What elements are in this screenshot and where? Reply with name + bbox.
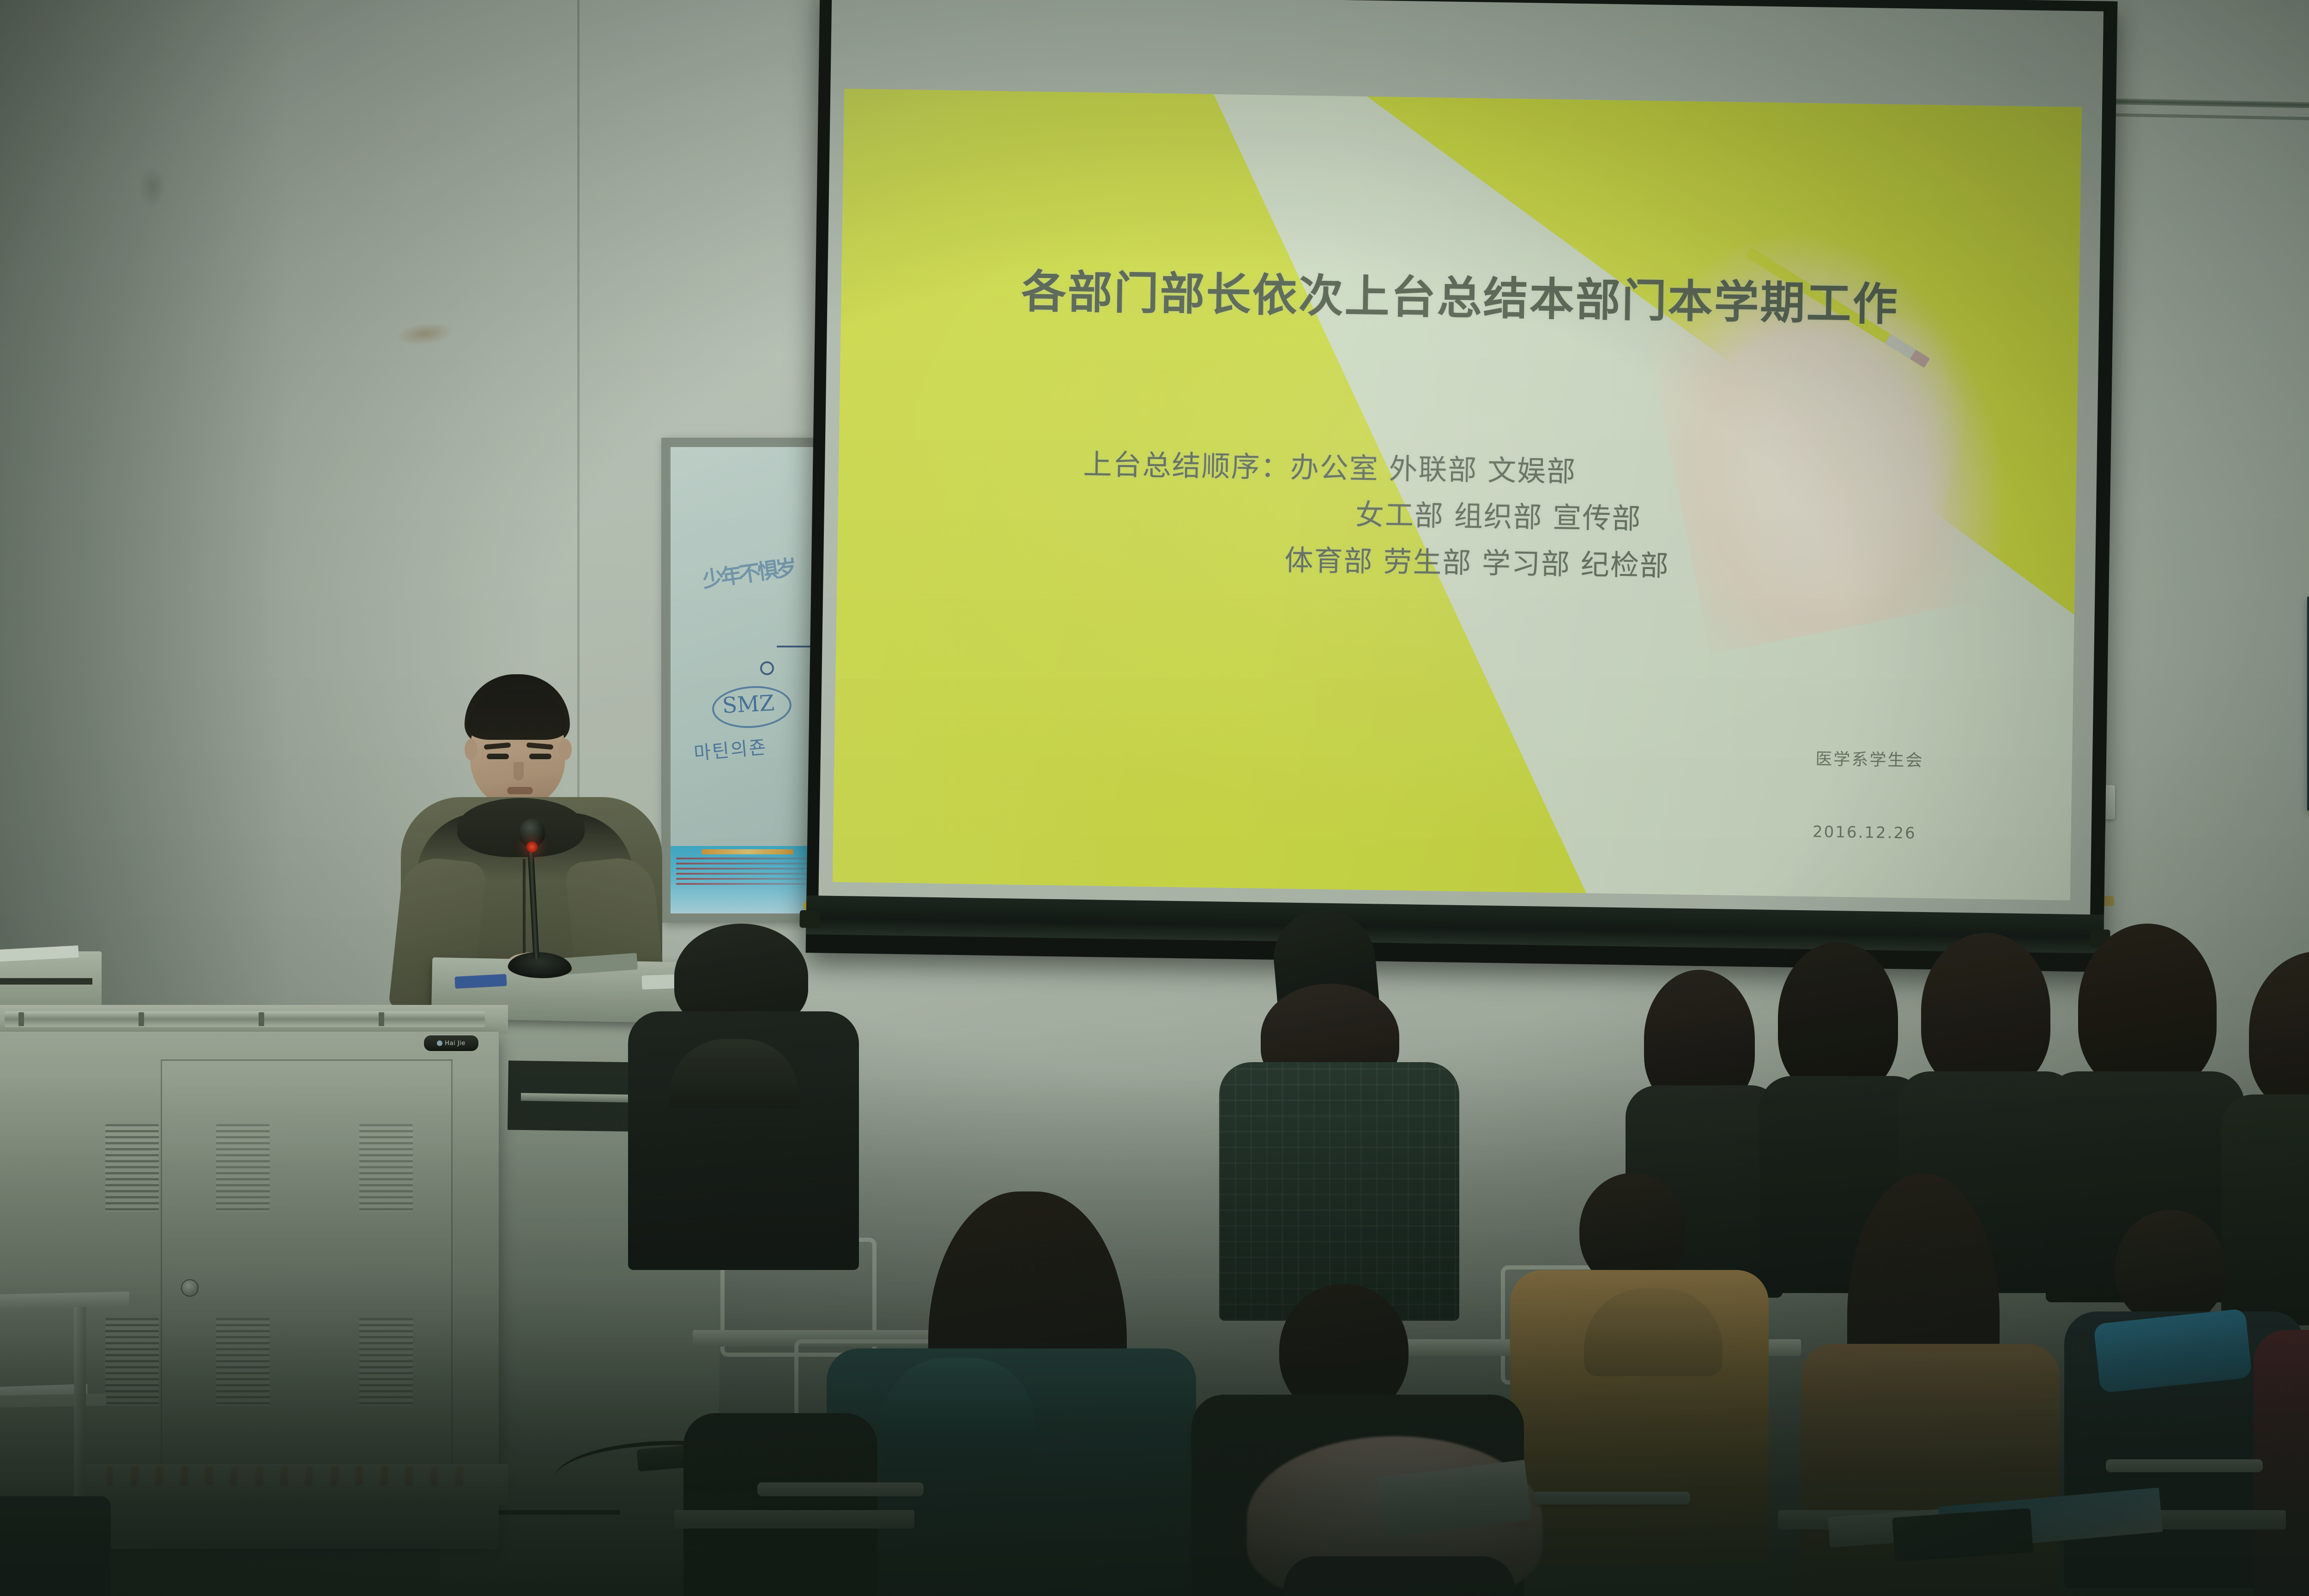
screenshot-root: 关于加强学生宿舍管理的通知 少年不惧岁 SMZ 마틴의죤 — [0, 0, 2309, 1596]
microphone-led-indicator — [526, 841, 538, 852]
presenter-eye-left — [487, 754, 509, 759]
presenter-eye-right — [529, 754, 551, 759]
presenter-ear-left — [465, 739, 478, 760]
presenter-nose — [514, 762, 524, 780]
presenter-ear-right — [559, 739, 572, 760]
lower-room-shadow — [0, 1019, 2309, 1596]
presenter-mouth — [507, 787, 533, 794]
